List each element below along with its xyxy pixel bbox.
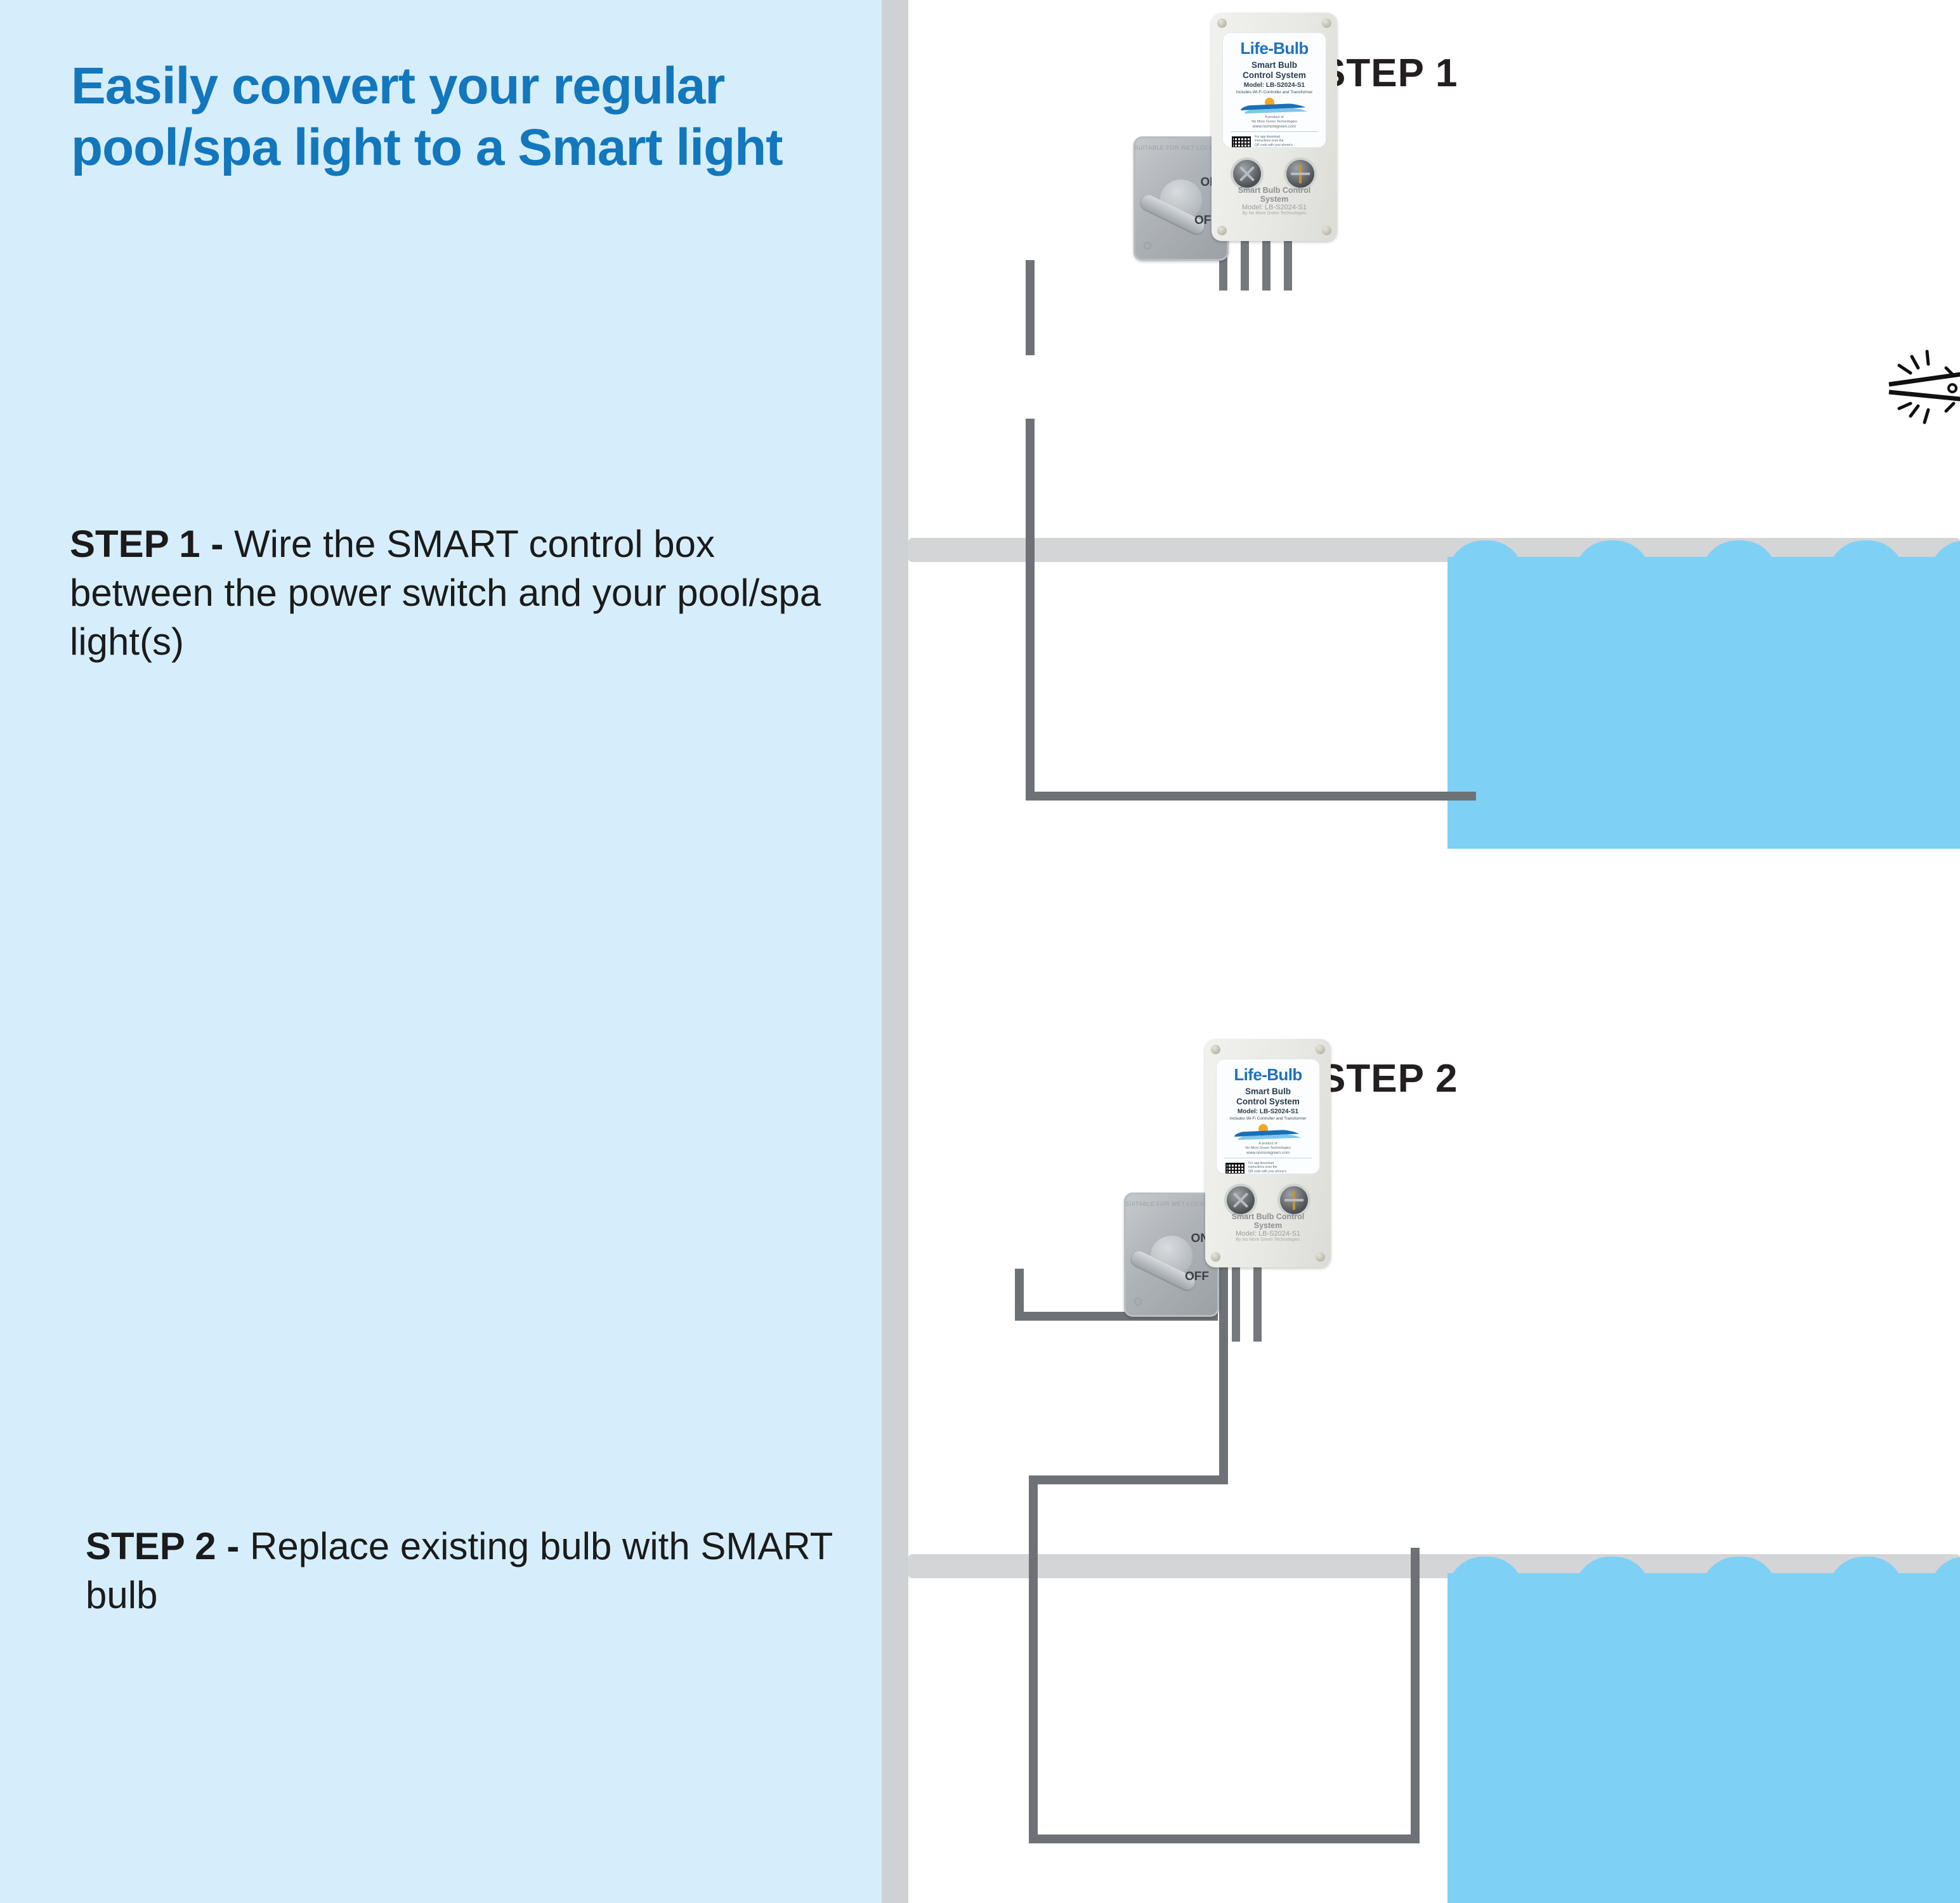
qr-text-3: QR code with your phone's: [1255, 143, 1293, 147]
screw-icon: [1211, 1252, 1220, 1262]
switch-screw: [1134, 1298, 1142, 1305]
panel-divider: [882, 0, 908, 1903]
qr-code-icon[interactable]: [1231, 135, 1252, 147]
wire-box-down-step2: [1219, 1265, 1228, 1484]
wave-sun-logo-icon: [1231, 1123, 1305, 1140]
water-surface-waves-step2: [1447, 1557, 1960, 1576]
wire-to-fixture-run: [1026, 792, 1476, 801]
switch-screw: [1144, 242, 1151, 249]
control-knob-left[interactable]: [1227, 1186, 1255, 1214]
footer-text-2: Model: LB-S2024-S1: [1218, 1230, 1318, 1238]
screw-icon: [1211, 1045, 1220, 1054]
wire-corner-step1: [1026, 792, 1035, 801]
label-url: www.nomoregreen.com: [1217, 1151, 1319, 1155]
pool-water-step2: [1447, 1573, 1960, 1903]
qr-code-icon[interactable]: [1224, 1161, 1246, 1174]
wire-left-run-step2: [1029, 1475, 1228, 1484]
pool-water-step1: [1447, 557, 1960, 849]
footer-text-1: Smart Bulb Control System: [1224, 186, 1324, 204]
step-1-badge: STEP 1: [1319, 51, 1458, 96]
label-divider: [1231, 131, 1318, 132]
control-box-label: Life-Bulb Smart Bulb Control System Mode…: [1217, 1059, 1319, 1174]
diagram-stage: STEP 1 STEP 2 SUITABLE FOR WET LOCATION: [908, 0, 1960, 1903]
label-model: Model: LB-S2024-S1: [1217, 1108, 1319, 1115]
wave-sun-logo-icon: [1237, 97, 1312, 114]
brand-name: Life-Bulb: [1223, 39, 1326, 58]
step-2-lead: STEP 2 -: [86, 1525, 250, 1567]
smart-control-box-step1[interactable]: Life-Bulb Smart Bulb Control System Mode…: [1212, 13, 1337, 241]
step-2-description: STEP 2 - Replace existing bulb with SMAR…: [86, 1522, 872, 1620]
qr-text-1: For app download: [1255, 135, 1280, 139]
conduit-2-1: [1232, 1265, 1240, 1342]
label-subtitle: Includes Wi-Fi Controller and Transforme…: [1223, 90, 1326, 95]
screw-icon: [1217, 18, 1227, 28]
conduit-2-2: [1253, 1265, 1262, 1342]
wire-switch-to-cut: [1026, 260, 1035, 355]
footer-text-2: Model: LB-S2024-S1: [1224, 204, 1324, 211]
label-subtitle: Includes Wi-Fi Controller and Transforme…: [1217, 1116, 1319, 1121]
label-title-2: Control System: [1243, 70, 1306, 80]
screw-icon: [1316, 1045, 1325, 1054]
footer-text-1: Smart Bulb Control System: [1218, 1212, 1318, 1230]
screw-icon: [1316, 1252, 1325, 1262]
screw-icon: [1217, 226, 1227, 235]
product-of-2: No More Green Technologies: [1251, 120, 1297, 124]
control-box-label: Life-Bulb Smart Bulb Control System Mode…: [1223, 33, 1326, 147]
page-title: Easily convert your regular pool/spa lig…: [71, 56, 851, 179]
brand-name: Life-Bulb: [1217, 1065, 1319, 1085]
wire-cut-to-deck: [1026, 419, 1035, 799]
product-of-1: A product of: [1265, 115, 1283, 119]
conduit-2: [1241, 240, 1249, 291]
smart-control-box-step2[interactable]: Life-Bulb Smart Bulb Control System Mode…: [1205, 1039, 1331, 1267]
label-title-1: Smart Bulb: [1245, 1087, 1291, 1096]
footer-text-3: By No More Green Technologies: [1218, 1238, 1318, 1242]
label-divider: [1224, 1158, 1312, 1158]
control-knob-right[interactable]: [1280, 1186, 1308, 1214]
control-knob-right[interactable]: [1286, 160, 1314, 188]
wire-up-to-fixture-step2: [1411, 1548, 1420, 1843]
footer-text-3: By No More Green Technologies: [1224, 211, 1324, 216]
step-1-description: STEP 1 - Wire the SMART control box betw…: [70, 520, 856, 666]
step-2-badge: STEP 2: [1319, 1056, 1458, 1101]
wire-bottom-run-step2: [1029, 1834, 1420, 1843]
wire-left-drop-step2: [1029, 1475, 1038, 1843]
switch-off-label: OFF: [1185, 1270, 1209, 1284]
water-surface-waves-step1: [1447, 540, 1960, 559]
step-1-lead: STEP 1 -: [70, 523, 234, 565]
label-model: Model: LB-S2024-S1: [1223, 82, 1326, 89]
product-of-1: A product of: [1258, 1142, 1277, 1146]
label-url: www.nomoregreen.com: [1223, 124, 1326, 129]
conduit-4: [1284, 240, 1292, 291]
product-of-2: No More Green Technologies: [1245, 1146, 1290, 1150]
qr-text-2: instructions scan the: [1248, 1165, 1277, 1169]
screw-icon: [1322, 18, 1331, 28]
conduit-3: [1262, 240, 1271, 291]
qr-text-3: QR code with your phone's: [1248, 1170, 1286, 1174]
qr-text-1: For app download: [1248, 1161, 1274, 1165]
label-title-2: Control System: [1236, 1097, 1300, 1106]
control-knob-left[interactable]: [1233, 160, 1261, 188]
screw-icon: [1322, 226, 1331, 235]
scissors-icon: [1885, 343, 1960, 438]
label-title-1: Smart Bulb: [1251, 60, 1297, 70]
qr-text-2: instructions scan the: [1255, 139, 1284, 143]
